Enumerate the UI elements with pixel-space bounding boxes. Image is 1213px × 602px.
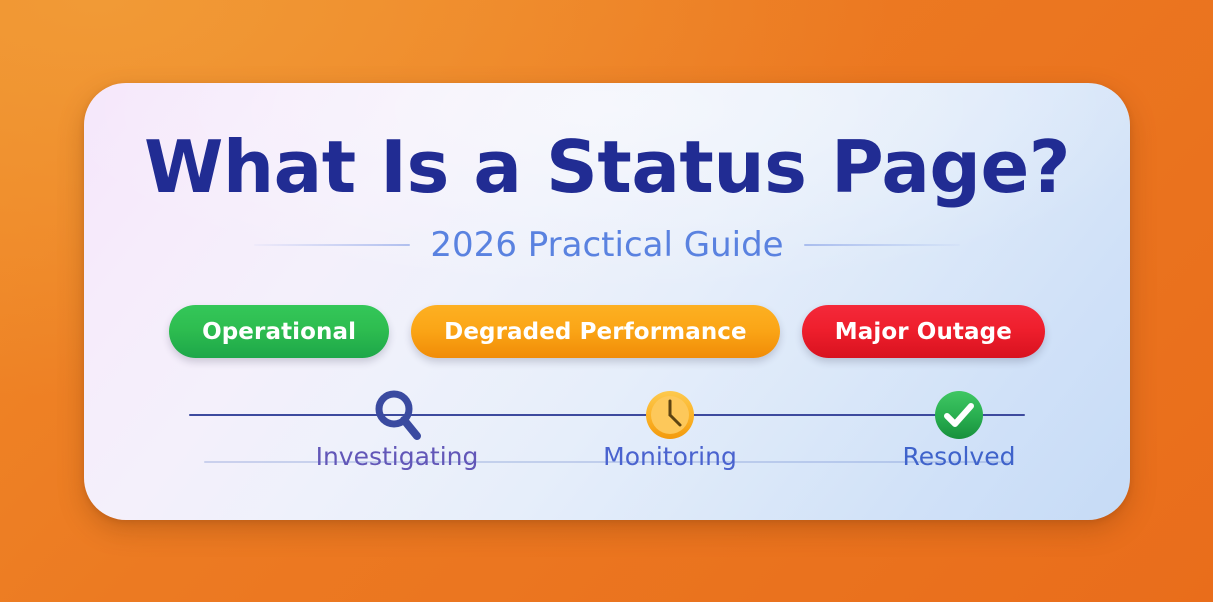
check-circle-icon [923, 389, 995, 441]
status-badge-degraded[interactable]: Degraded Performance [411, 305, 780, 358]
timeline-step-monitoring[interactable]: Monitoring [565, 383, 775, 470]
timeline-step-monitoring-icon-wrap [565, 383, 775, 447]
status-badge-outage-label: Major Outage [835, 319, 1012, 345]
magnifier-icon [360, 386, 434, 444]
status-badge-outage[interactable]: Major Outage [802, 305, 1045, 358]
page-subtitle: 2026 Practical Guide [430, 228, 783, 262]
timeline-step-investigating-label: Investigating [304, 444, 491, 469]
subtitle-row: 2026 Practical Guide [84, 228, 1130, 262]
timeline-step-resolved[interactable]: Resolved [854, 383, 1064, 470]
clock-icon [634, 389, 706, 441]
timeline-step-resolved-label: Resolved [891, 444, 1028, 469]
incident-timeline: Investigating [84, 383, 1130, 503]
status-badge-degraded-label: Degraded Performance [444, 319, 747, 345]
page-title: What Is a Status Page? [84, 131, 1130, 203]
subtitle-rule-right [804, 244, 960, 246]
subtitle-rule-left [254, 244, 410, 246]
status-page-card: What Is a Status Page? 2026 Practical Gu… [84, 83, 1130, 520]
status-badge-operational[interactable]: Operational [169, 305, 389, 358]
timeline-step-investigating[interactable]: Investigating [292, 383, 502, 470]
timeline-step-monitoring-label: Monitoring [591, 444, 749, 469]
status-badge-group: Operational Degraded Performance Major O… [84, 305, 1130, 358]
timeline-step-investigating-icon-wrap [292, 383, 502, 447]
status-badge-operational-label: Operational [202, 319, 356, 345]
timeline-step-resolved-icon-wrap [854, 383, 1064, 447]
